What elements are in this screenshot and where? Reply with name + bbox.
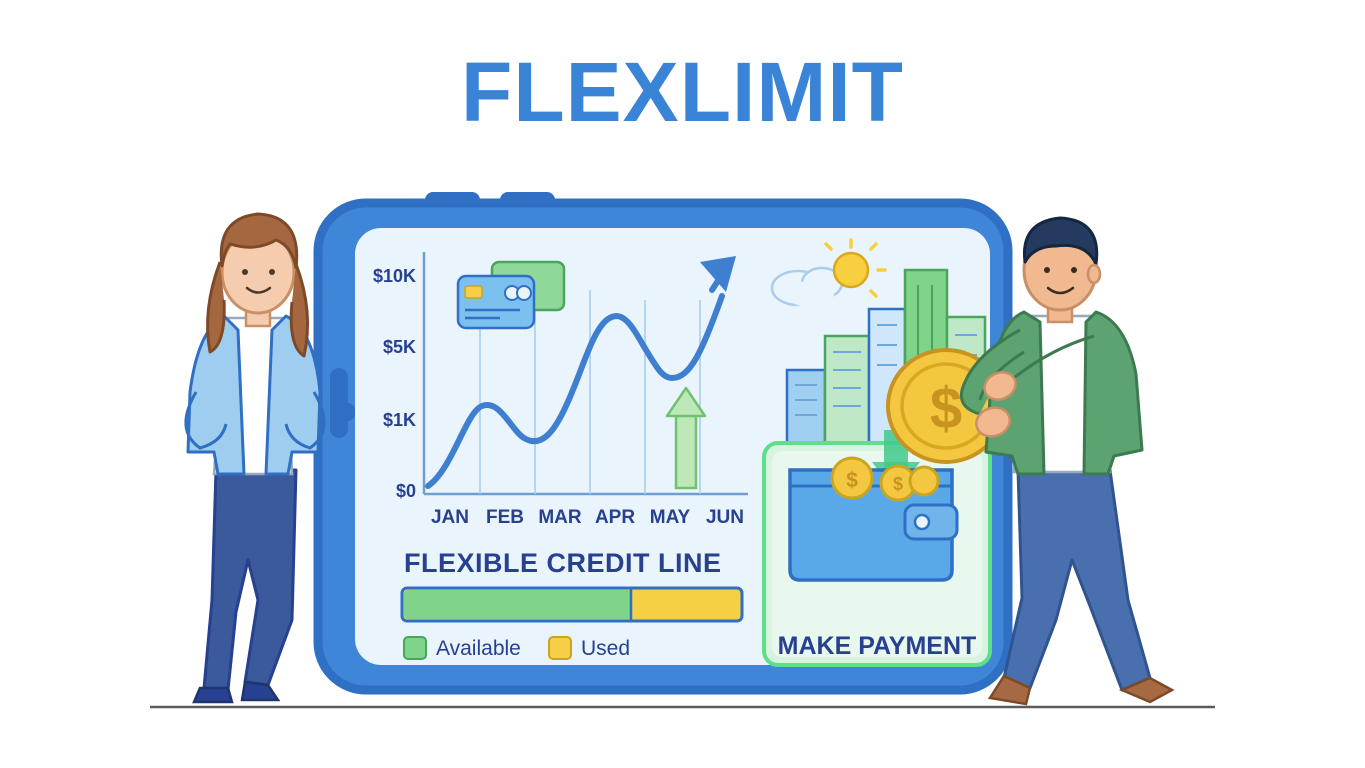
- coin-currency-symbol: $: [930, 376, 962, 441]
- chart-xtick-may: MAY: [650, 507, 691, 528]
- illustration-canvas: FLEXLIMIT: [0, 0, 1365, 768]
- make-payment-label: MAKE PAYMENT: [778, 632, 977, 660]
- chart-xtick-jan: JAN: [431, 507, 469, 528]
- legend-available-swatch: [404, 637, 426, 659]
- credit-progress-bar: [402, 588, 742, 621]
- credit-legend: Available Used: [404, 637, 630, 660]
- scene: $10K $5K $1K $0 JAN FEB MAR APR MAY JUN: [0, 0, 1365, 768]
- make-payment-panel[interactable]: $ $ MAKE PAYMENT: [764, 430, 990, 665]
- credit-progress-available: [404, 590, 632, 619]
- chart-ytick-5k: $5K: [383, 337, 416, 357]
- chart-ytick-0: $0: [396, 481, 416, 501]
- svg-text:$: $: [893, 474, 903, 494]
- chart-xtick-apr: APR: [595, 507, 635, 528]
- credit-line-heading: FLEXIBLE CREDIT LINE: [404, 548, 722, 578]
- legend-used-label: Used: [581, 637, 630, 660]
- chart-xtick-feb: FEB: [486, 507, 524, 528]
- chart-ytick-10k: $10K: [373, 266, 416, 286]
- legend-available-label: Available: [436, 637, 521, 660]
- chart-xtick-jun: JUN: [706, 507, 744, 528]
- legend-used-swatch: [549, 637, 571, 659]
- svg-text:$: $: [846, 469, 858, 492]
- woman-left: [186, 214, 324, 702]
- chart-xtick-mar: MAR: [538, 507, 582, 528]
- chart-ytick-1k: $1K: [383, 410, 416, 430]
